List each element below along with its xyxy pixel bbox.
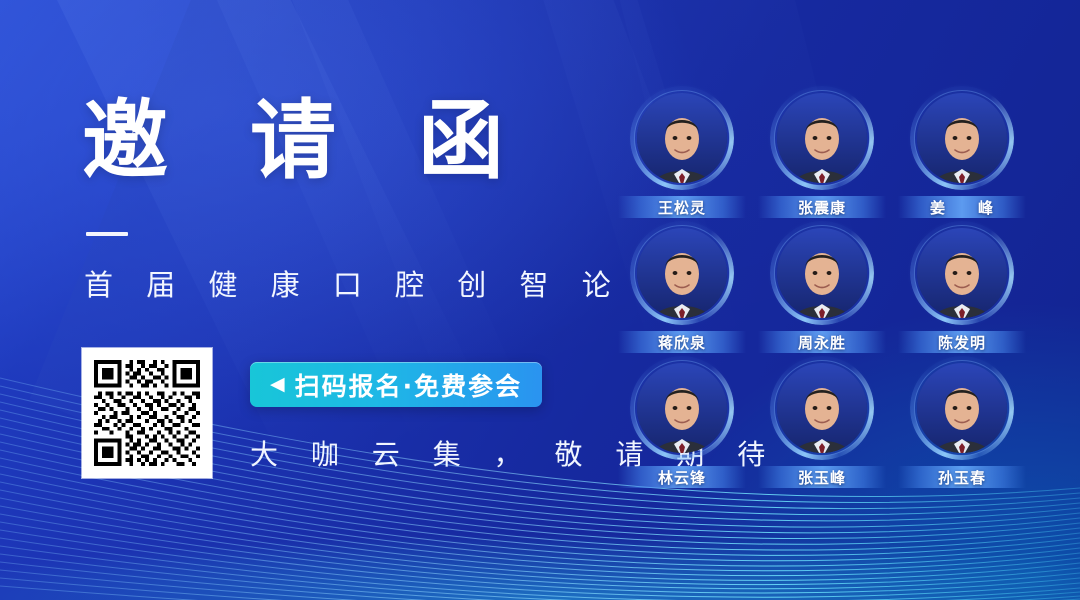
avatar-inner-ring-icon — [914, 90, 1010, 186]
avatar-inner-ring-icon — [774, 225, 870, 321]
invitation-poster: 邀 请 函 首 届 健 康 口 腔 创 智 论 坛 — [0, 0, 1080, 600]
speaker-card-4[interactable]: 蒋欣泉 — [612, 221, 752, 356]
speaker-grid: 王松灵 — [612, 86, 1032, 491]
speaker-card-8[interactable]: 张玉峰 — [752, 356, 892, 491]
avatar — [910, 86, 1014, 190]
speaker-name: 蒋欣泉 — [658, 332, 706, 353]
speaker-card-5[interactable]: 周永胜 — [752, 221, 892, 356]
avatar-inner-ring-icon — [774, 90, 870, 186]
signup-button-label: 扫码报名·免费参会 — [295, 367, 523, 403]
avatar-inner-ring-icon — [774, 360, 870, 456]
speaker-name: 张玉峰 — [798, 467, 846, 488]
speaker-card-6[interactable]: 陈发明 — [892, 221, 1032, 356]
avatar-inner-ring-icon — [634, 360, 730, 456]
speaker-name: 张震康 — [798, 197, 846, 218]
avatar — [770, 86, 874, 190]
avatar — [910, 221, 1014, 325]
speaker-name: 姜 峰 — [930, 197, 994, 218]
page-subtitle: 首 届 健 康 口 腔 创 智 论 坛 — [84, 262, 582, 304]
title-divider-icon — [86, 232, 128, 236]
speaker-card-1[interactable]: 王松灵 — [612, 86, 752, 221]
qr-code[interactable] — [82, 348, 212, 478]
headline-block: 邀 请 函 首 届 健 康 口 腔 创 智 论 坛 — [82, 98, 582, 304]
avatar-inner-ring-icon — [914, 225, 1010, 321]
speaker-nameplate: 周永胜 — [758, 331, 886, 353]
speaker-name: 陈发明 — [938, 332, 986, 353]
avatar — [630, 356, 734, 460]
qr-code-icon — [90, 356, 204, 470]
speaker-card-3[interactable]: 姜 峰 — [892, 86, 1032, 221]
speaker-card-2[interactable]: 张震康 — [752, 86, 892, 221]
avatar — [910, 356, 1014, 460]
avatar — [630, 221, 734, 325]
speaker-name: 周永胜 — [798, 332, 846, 353]
page-title: 邀 请 函 — [82, 98, 582, 184]
signup-button[interactable]: ◀ 扫码报名·免费参会 — [250, 362, 542, 407]
speaker-nameplate: 孙玉春 — [898, 466, 1026, 488]
avatar — [770, 356, 874, 460]
speaker-nameplate: 陈发明 — [898, 331, 1026, 353]
speaker-card-9[interactable]: 孙玉春 — [892, 356, 1032, 491]
speaker-card-7[interactable]: 林云锋 — [612, 356, 752, 491]
avatar-inner-ring-icon — [634, 225, 730, 321]
speaker-nameplate: 姜 峰 — [898, 196, 1026, 218]
speaker-name: 林云锋 — [658, 467, 706, 488]
speaker-nameplate: 张震康 — [758, 196, 886, 218]
speaker-nameplate: 王松灵 — [618, 196, 746, 218]
speaker-name: 孙玉春 — [938, 467, 986, 488]
speaker-nameplate: 林云锋 — [618, 466, 746, 488]
avatar — [630, 86, 734, 190]
avatar — [770, 221, 874, 325]
speaker-nameplate: 蒋欣泉 — [618, 331, 746, 353]
speaker-nameplate: 张玉峰 — [758, 466, 886, 488]
avatar-inner-ring-icon — [634, 90, 730, 186]
speaker-name: 王松灵 — [658, 197, 706, 218]
avatar-inner-ring-icon — [914, 360, 1010, 456]
triangle-left-icon: ◀ — [270, 375, 287, 394]
